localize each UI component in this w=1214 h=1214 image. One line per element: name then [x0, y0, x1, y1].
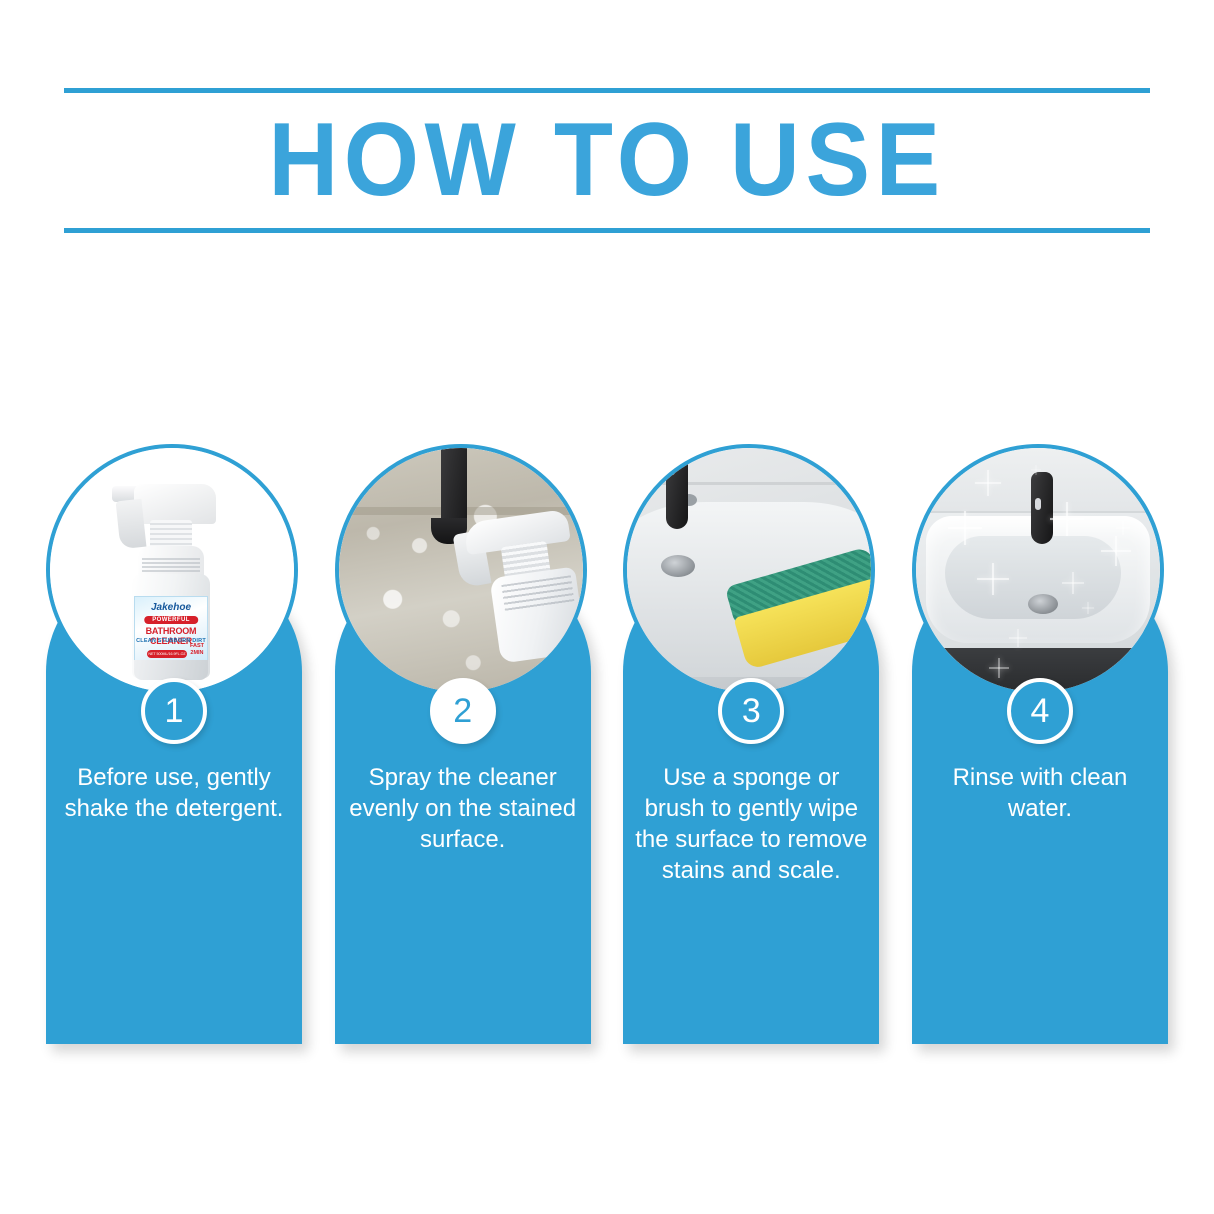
product-brand: Jakehoe — [135, 602, 207, 613]
product-speed-line2: 2MIN — [190, 650, 204, 657]
product-speed-badge: FAST 2MIN — [190, 643, 204, 657]
sparkle-icon — [1062, 572, 1084, 594]
product-net-content: NET 500ML/16.9FL.OZ — [147, 650, 187, 658]
sparkle-icon — [1101, 536, 1131, 566]
step-number-badge-4: 4 — [1007, 678, 1073, 744]
step-caption-4: Rinse with clean water. — [920, 762, 1160, 824]
sparkle-icon — [1050, 502, 1084, 536]
step-number-badge-1: 1 — [141, 678, 207, 744]
sparkle-icon — [977, 563, 1009, 595]
sparkle-icon — [1031, 465, 1041, 475]
sparkle-icon — [975, 470, 1001, 496]
header-bottom-rule — [64, 228, 1150, 233]
step-1-image-disc: Jakehoe POWERFUL BATHROOM CLEANER CLEAN … — [46, 444, 298, 696]
sparkle-icon — [1009, 629, 1027, 647]
product-speed-line1: FAST — [190, 643, 204, 650]
sparkle-icon — [948, 511, 982, 545]
foamy-stained-surface-photo — [339, 448, 583, 692]
product-label: Jakehoe POWERFUL BATHROOM CLEANER CLEAN … — [134, 596, 208, 664]
step-4-image-disc — [912, 444, 1164, 696]
sponge-wiping-sink-photo — [627, 448, 871, 692]
page-title: HOW TO USE — [102, 98, 1112, 222]
product-tagline: POWERFUL — [144, 616, 198, 624]
page-header: HOW TO USE — [64, 88, 1150, 236]
step-number-badge-3: 3 — [718, 678, 784, 744]
step-caption-2: Spray the cleaner evenly on the stained … — [343, 762, 583, 855]
sparkling-clean-sink-photo — [916, 448, 1160, 692]
sparkle-icon — [1082, 602, 1094, 614]
step-caption-3: Use a sponge or brush to gently wipe the… — [631, 762, 871, 886]
header-top-rule — [64, 88, 1150, 93]
spray-bottle-product-photo: Jakehoe POWERFUL BATHROOM CLEANER CLEAN … — [50, 448, 294, 692]
sparkle-icon — [989, 658, 1009, 678]
step-caption-1: Before use, gently shake the detergent. — [54, 762, 294, 824]
step-3-image-disc — [623, 444, 875, 696]
step-2-image-disc — [335, 444, 587, 696]
step-number-badge-2: 2 — [430, 678, 496, 744]
sparkle-icon — [1116, 521, 1130, 535]
